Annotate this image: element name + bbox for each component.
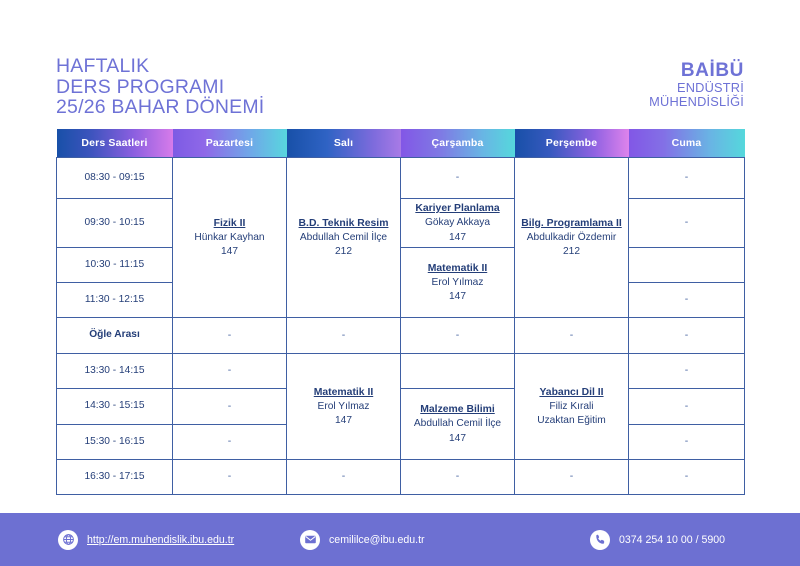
brand-logo: BAİBÜ ENDÜSTRİ MÜHENDİSLİĞİ bbox=[649, 60, 744, 108]
course-instructor: Abdullah Cemil İlçe bbox=[290, 231, 397, 246]
cell-carsamba-matematik: Matematik II Erol Yılmaz 147 bbox=[401, 248, 515, 318]
title-line-2: DERS PROGRAMI bbox=[56, 77, 264, 98]
empty-marker: - bbox=[228, 329, 232, 341]
time-slot-lunch: Öğle Arası bbox=[57, 318, 173, 354]
footer-phone[interactable]: 0374 254 10 00 / 5900 bbox=[590, 530, 725, 550]
cell-sali-slot-8: - bbox=[287, 460, 401, 495]
cell-pazartesi-lunch: - bbox=[173, 318, 287, 354]
cell-carsamba-slot-8: - bbox=[401, 460, 515, 495]
course-instructor: Erol Yılmaz bbox=[404, 276, 511, 291]
column-header-carsamba: Çarşamba bbox=[401, 129, 515, 158]
course-title: Yabancı Dil II bbox=[518, 385, 625, 400]
cell-sali-matematik: Matematik II Erol Yılmaz 147 bbox=[287, 354, 401, 460]
column-header-ders-saatleri: Ders Saatleri bbox=[57, 129, 173, 158]
table-row: 14:30 - 15:15 - Malzeme Bilimi Abdullah … bbox=[57, 389, 745, 425]
empty-marker: - bbox=[456, 470, 460, 482]
cell-persembe-yabanci-dil: Yabancı Dil II Filiz Kırali Uzaktan Eğit… bbox=[515, 354, 629, 460]
page-header: HAFTALIK DERS PROGRAMI 25/26 BAHAR DÖNEM… bbox=[0, 0, 800, 128]
phone-text[interactable]: 0374 254 10 00 / 5900 bbox=[619, 534, 725, 546]
weekly-schedule-table: Ders Saatleri Pazartesi Salı Çarşamba Pe… bbox=[56, 129, 745, 495]
cell-pazartesi-morning: Fizik II Hünkar Kayhan 147 bbox=[173, 158, 287, 318]
course-room: 147 bbox=[404, 432, 511, 447]
empty-marker: - bbox=[228, 400, 232, 412]
course-title: Kariyer Planlama bbox=[404, 201, 511, 216]
course-room: Uzaktan Eğitim bbox=[518, 414, 625, 429]
table-row-lunch: Öğle Arası - - - - - bbox=[57, 318, 745, 354]
time-slot-6: 14:30 - 15:15 bbox=[57, 389, 173, 425]
cell-persembe-lunch: - bbox=[515, 318, 629, 354]
course-title: Matematik II bbox=[290, 385, 397, 400]
title-line-1: HAFTALIK bbox=[56, 56, 264, 77]
cell-pazartesi-slot-6: - bbox=[173, 389, 287, 425]
empty-marker: - bbox=[342, 470, 346, 482]
page-title: HAFTALIK DERS PROGRAMI 25/26 BAHAR DÖNEM… bbox=[56, 56, 264, 118]
page-footer: http://em.muhendislik.ibu.edu.tr cemilil… bbox=[0, 513, 800, 566]
footer-website[interactable]: http://em.muhendislik.ibu.edu.tr bbox=[58, 530, 234, 550]
course-instructor: Filiz Kırali bbox=[518, 400, 625, 415]
empty-marker: - bbox=[342, 329, 346, 341]
course-instructor: Erol Yılmaz bbox=[290, 400, 397, 415]
empty-marker: - bbox=[570, 470, 574, 482]
globe-icon bbox=[58, 530, 78, 550]
cell-carsamba-slot-5 bbox=[401, 354, 515, 389]
brand-department-line-2: MÜHENDİSLİĞİ bbox=[649, 95, 744, 109]
cell-sali-morning: B.D. Teknik Resim Abdullah Cemil İlçe 21… bbox=[287, 158, 401, 318]
cell-cuma-lunch: - bbox=[629, 318, 745, 354]
course-instructor: Gökay Akkaya bbox=[404, 216, 511, 231]
table-row: 08:30 - 09:15 Fizik II Hünkar Kayhan 147… bbox=[57, 158, 745, 199]
course-room: 147 bbox=[404, 231, 511, 246]
empty-marker: - bbox=[685, 293, 689, 305]
empty-marker: - bbox=[685, 329, 689, 341]
table-row: 10:30 - 11:15 Matematik II Erol Yılmaz 1… bbox=[57, 248, 745, 283]
table-row: 09:30 - 10:15 Kariyer Planlama Gökay Akk… bbox=[57, 199, 745, 248]
course-room: 147 bbox=[176, 245, 283, 260]
cell-cuma-slot-5: - bbox=[629, 354, 745, 389]
website-link-text[interactable]: http://em.muhendislik.ibu.edu.tr bbox=[87, 534, 234, 546]
column-header-cuma: Cuma bbox=[629, 129, 745, 158]
cell-cuma-slot-6: - bbox=[629, 389, 745, 425]
empty-marker: - bbox=[228, 364, 232, 376]
course-instructor: Abdulkadir Özdemir bbox=[518, 231, 625, 246]
time-slot-4: 11:30 - 12:15 bbox=[57, 283, 173, 318]
column-header-persembe: Perşembe bbox=[515, 129, 629, 158]
cell-cuma-slot-8: - bbox=[629, 460, 745, 495]
time-slot-2: 09:30 - 10:15 bbox=[57, 199, 173, 248]
email-text[interactable]: cemililce@ibu.edu.tr bbox=[329, 534, 425, 546]
course-instructor: Abdullah Cemil İlçe bbox=[404, 417, 511, 432]
time-slot-5: 13:30 - 14:15 bbox=[57, 354, 173, 389]
time-slot-1: 08:30 - 09:15 bbox=[57, 158, 173, 199]
empty-marker: - bbox=[685, 400, 689, 412]
empty-marker: - bbox=[228, 435, 232, 447]
cell-cuma-slot-2: - bbox=[629, 199, 745, 248]
empty-marker: - bbox=[456, 171, 460, 183]
phone-icon bbox=[590, 530, 610, 550]
brand-department-line-1: ENDÜSTRİ bbox=[649, 81, 744, 95]
table-row: 16:30 - 17:15 - - - - - bbox=[57, 460, 745, 495]
course-title: Fizik II bbox=[176, 216, 283, 231]
title-line-3: 25/26 BAHAR DÖNEMİ bbox=[56, 97, 264, 118]
course-title: Malzeme Bilimi bbox=[404, 402, 511, 417]
course-title: B.D. Teknik Resim bbox=[290, 216, 397, 231]
course-room: 212 bbox=[518, 245, 625, 260]
course-room: 212 bbox=[290, 245, 397, 260]
cell-cuma-slot-4: - bbox=[629, 283, 745, 318]
cell-carsamba-malzeme: Malzeme Bilimi Abdullah Cemil İlçe 147 bbox=[401, 389, 515, 460]
cell-persembe-slot-8: - bbox=[515, 460, 629, 495]
empty-marker: - bbox=[685, 470, 689, 482]
time-slot-3: 10:30 - 11:15 bbox=[57, 248, 173, 283]
brand-name: BAİBÜ bbox=[649, 60, 744, 81]
table-row: 13:30 - 14:15 - Matematik II Erol Yılmaz… bbox=[57, 354, 745, 389]
course-room: 147 bbox=[404, 290, 511, 305]
empty-marker: - bbox=[685, 171, 689, 183]
empty-marker: - bbox=[456, 329, 460, 341]
course-title: Matematik II bbox=[404, 261, 511, 276]
table-header-row: Ders Saatleri Pazartesi Salı Çarşamba Pe… bbox=[57, 129, 745, 158]
course-title: Bilg. Programlama II bbox=[518, 216, 625, 231]
cell-carsamba-slot-2: Kariyer Planlama Gökay Akkaya 147 bbox=[401, 199, 515, 248]
footer-email[interactable]: cemililce@ibu.edu.tr bbox=[300, 530, 425, 550]
empty-marker: - bbox=[570, 329, 574, 341]
cell-persembe-morning: Bilg. Programlama II Abdulkadir Özdemir … bbox=[515, 158, 629, 318]
time-slot-8: 16:30 - 17:15 bbox=[57, 460, 173, 495]
envelope-icon bbox=[300, 530, 320, 550]
cell-pazartesi-slot-5: - bbox=[173, 354, 287, 389]
cell-carsamba-lunch: - bbox=[401, 318, 515, 354]
column-header-sali: Salı bbox=[287, 129, 401, 158]
empty-marker: - bbox=[685, 216, 689, 228]
column-header-pazartesi: Pazartesi bbox=[173, 129, 287, 158]
cell-cuma-slot-3 bbox=[629, 248, 745, 283]
course-instructor: Hünkar Kayhan bbox=[176, 231, 283, 246]
time-slot-7: 15:30 - 16:15 bbox=[57, 425, 173, 460]
cell-cuma-slot-1: - bbox=[629, 158, 745, 199]
cell-pazartesi-slot-8: - bbox=[173, 460, 287, 495]
cell-sali-lunch: - bbox=[287, 318, 401, 354]
empty-marker: - bbox=[685, 364, 689, 376]
cell-cuma-slot-7: - bbox=[629, 425, 745, 460]
course-room: 147 bbox=[290, 414, 397, 429]
empty-marker: - bbox=[685, 435, 689, 447]
cell-carsamba-slot-1: - bbox=[401, 158, 515, 199]
cell-pazartesi-slot-7: - bbox=[173, 425, 287, 460]
empty-marker: - bbox=[228, 470, 232, 482]
